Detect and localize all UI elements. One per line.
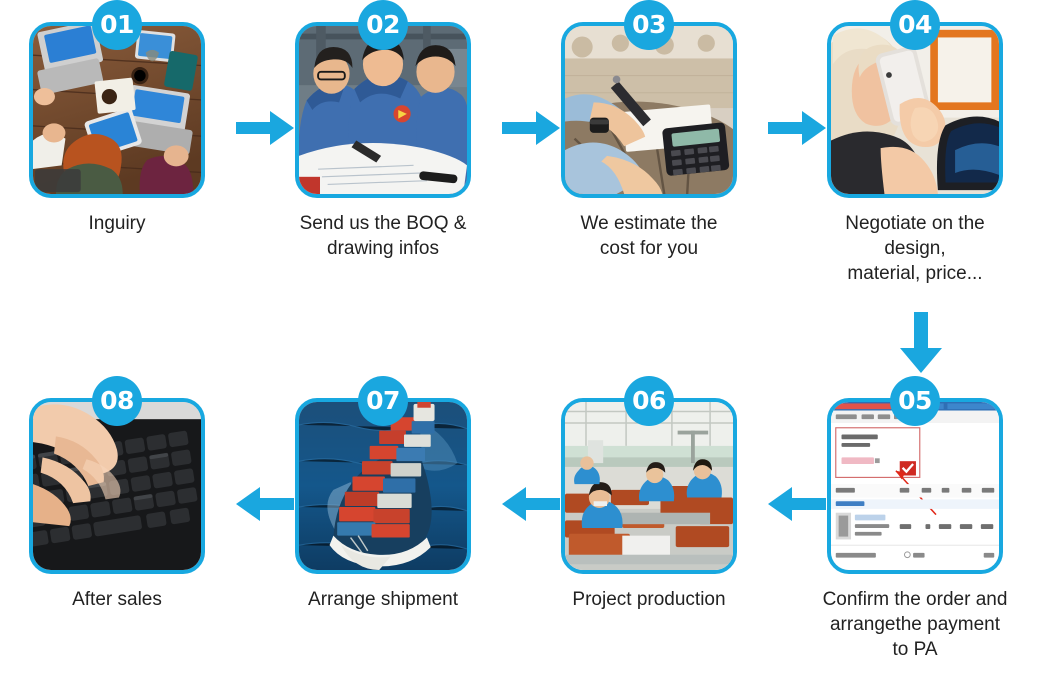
- step-07-caption: Arrange shipment: [290, 587, 476, 612]
- arrow-05-to-06: [768, 484, 828, 524]
- step-03-number-badge: 03: [624, 0, 674, 50]
- step-03-thumbnail-wrap: 03: [561, 22, 737, 198]
- arrow-07-to-08: [236, 484, 296, 524]
- process-step-01: 01 Inguiry: [24, 22, 210, 236]
- step-06-caption: Project production: [556, 587, 742, 612]
- step-05-caption: Confirm the order and arrangethe payment…: [822, 587, 1008, 662]
- arrow-04-to-05: [893, 312, 949, 374]
- step-08-thumbnail-wrap: 08: [29, 398, 205, 574]
- arrow-02-to-03: [502, 108, 562, 148]
- step-02-thumbnail-wrap: 02: [295, 22, 471, 198]
- process-step-04: 04 Negotiate on the design, material, pr…: [822, 22, 1008, 286]
- step-02-caption: Send us the BOQ & drawing infos: [290, 211, 476, 261]
- step-05-thumbnail-wrap: 05: [827, 398, 1003, 574]
- step-04-caption: Negotiate on the design, material, price…: [822, 211, 1008, 286]
- step-06-thumbnail-wrap: 06: [561, 398, 737, 574]
- step-01-number-badge: 01: [92, 0, 142, 50]
- step-01-thumbnail-wrap: 01: [29, 22, 205, 198]
- process-flow-diagram: 01 Inguiry: [0, 0, 1060, 686]
- step-02-number-badge: 02: [358, 0, 408, 50]
- process-step-02: 02 Send us the BOQ & drawing infos: [290, 22, 476, 261]
- process-step-06: 06 Project production: [556, 398, 742, 612]
- process-step-08: 08 After sales: [24, 398, 210, 612]
- step-06-number-badge: 06: [624, 376, 674, 426]
- step-04-thumbnail-wrap: 04: [827, 22, 1003, 198]
- process-step-07: 07 Arrange shipment: [290, 398, 476, 612]
- step-03-caption: We estimate the cost for you: [556, 211, 742, 261]
- step-08-number-badge: 08: [92, 376, 142, 426]
- step-07-thumbnail-wrap: 07: [295, 398, 471, 574]
- step-08-caption: After sales: [24, 587, 210, 612]
- step-04-number-badge: 04: [890, 0, 940, 50]
- arrow-06-to-07: [502, 484, 562, 524]
- step-01-caption: Inguiry: [24, 211, 210, 236]
- process-step-05: 05 Confirm the order and arrangethe paym…: [822, 398, 1008, 662]
- arrow-03-to-04: [768, 108, 828, 148]
- step-05-number-badge: 05: [890, 376, 940, 426]
- step-07-number-badge: 07: [358, 376, 408, 426]
- process-step-03: 03 We estimate the cost for you: [556, 22, 742, 261]
- arrow-01-to-02: [236, 108, 296, 148]
